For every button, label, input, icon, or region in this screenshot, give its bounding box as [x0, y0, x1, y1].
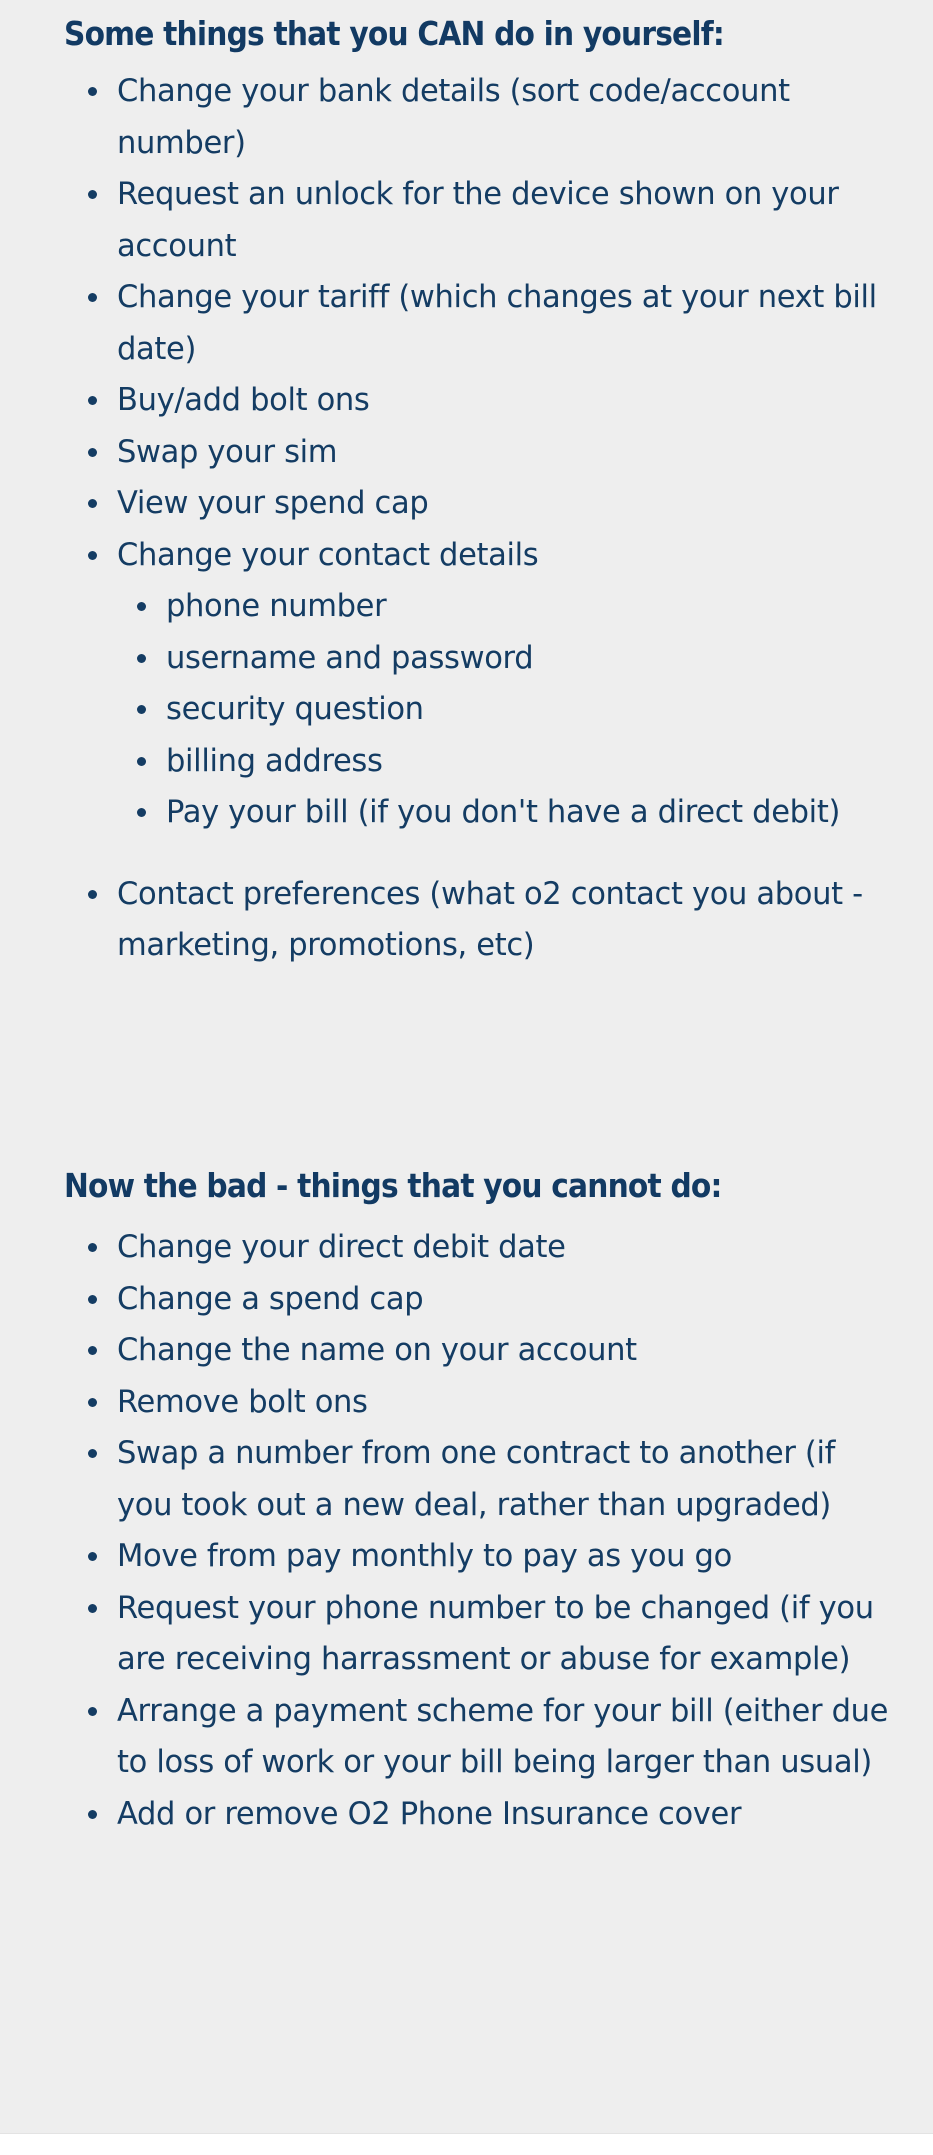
bullet-point-icon — [88, 396, 97, 405]
bullet-point-icon — [88, 1552, 97, 1561]
bullet-point-icon — [137, 602, 146, 611]
bullet-point-icon — [88, 1243, 97, 1252]
list-item-label: Change your bank details (sort code/acco… — [117, 66, 895, 169]
section-heading-can-do: Some things that you CAN do in yourself: — [64, 14, 724, 54]
section-heading-cannot-do: Now the bad - things that you cannot do: — [64, 1166, 722, 1206]
list-item: Add or remove O2 Phone Insurance cover — [0, 1789, 933, 1841]
bullet-point-icon — [88, 1398, 97, 1407]
list-item-label: Contact preferences (what o2 contact you… — [117, 869, 895, 972]
list-item: Change your direct debit date — [0, 1222, 933, 1274]
page-root: Some things that you CAN do in yourself:… — [0, 0, 933, 2155]
list-item-label: View your spend cap — [117, 478, 895, 530]
list-item: Request your phone number to be changed … — [0, 1583, 933, 1686]
list-item-label: Swap a number from one contract to anoth… — [117, 1428, 895, 1531]
list-item-label: Buy/add bolt ons — [117, 375, 895, 427]
list-item-label: Change your contact details — [117, 530, 895, 582]
list-item: security question — [0, 684, 933, 736]
list-item: Buy/add bolt ons — [0, 375, 933, 427]
list-item: Change your tariff (which changes at you… — [0, 272, 933, 375]
list-item-label: Remove bolt ons — [117, 1377, 895, 1429]
list-item-label: Change the name on your account — [117, 1325, 895, 1377]
bullet-point-icon — [88, 1346, 97, 1355]
list-item-label: Change your tariff (which changes at you… — [117, 272, 895, 375]
bullet-point-icon — [137, 705, 146, 714]
list-item-label: Request an unlock for the device shown o… — [117, 169, 895, 272]
list-item-label: Change your direct debit date — [117, 1222, 895, 1274]
bullet-point-icon — [88, 293, 97, 302]
list-item: Contact preferences (what o2 contact you… — [0, 869, 933, 972]
list-item: phone number — [0, 581, 933, 633]
list-item: username and password — [0, 633, 933, 685]
list-item: Arrange a payment scheme for your bill (… — [0, 1686, 933, 1789]
list-item-label: Request your phone number to be changed … — [117, 1583, 895, 1686]
list-item: Request an unlock for the device shown o… — [0, 169, 933, 272]
list-item: Change a spend cap — [0, 1274, 933, 1326]
list-item-label: billing address — [166, 736, 896, 788]
list-item-label: Add or remove O2 Phone Insurance cover — [117, 1789, 895, 1841]
list-item: Remove bolt ons — [0, 1377, 933, 1429]
list-item-label: phone number — [166, 581, 896, 633]
bullet-point-icon — [88, 1604, 97, 1613]
list-item-label: Change a spend cap — [117, 1274, 895, 1326]
list-item: Pay your bill (if you don't have a direc… — [0, 787, 933, 839]
can-do-list: Change your bank details (sort code/acco… — [0, 66, 933, 972]
list-item: Move from pay monthly to pay as you go — [0, 1531, 933, 1583]
list-item-label: Pay your bill (if you don't have a direc… — [166, 787, 896, 839]
bottom-white-strip — [0, 2133, 933, 2155]
list-item: Change your bank details (sort code/acco… — [0, 66, 933, 169]
list-item-label: Move from pay monthly to pay as you go — [117, 1531, 895, 1583]
bullet-point-icon — [88, 551, 97, 560]
bullet-point-icon — [88, 890, 97, 899]
bullet-point-icon — [88, 87, 97, 96]
bullet-point-icon — [88, 1810, 97, 1819]
bullet-point-icon — [137, 654, 146, 663]
list-item: billing address — [0, 736, 933, 788]
bullet-point-icon — [88, 190, 97, 199]
list-item-label: username and password — [166, 633, 896, 685]
bullet-point-icon — [88, 1707, 97, 1716]
section-heading-can-do-wrapper: Some things that you CAN do in yourself: — [64, 14, 797, 54]
bullet-point-icon — [137, 808, 146, 817]
bullet-point-icon — [88, 1295, 97, 1304]
list-item-label: Arrange a payment scheme for your bill (… — [117, 1686, 895, 1789]
list-item: View your spend cap — [0, 478, 933, 530]
bullet-point-icon — [88, 1449, 97, 1458]
list-item: Change the name on your account — [0, 1325, 933, 1377]
list-item-label: Swap your sim — [117, 427, 895, 479]
bullet-point-icon — [88, 448, 97, 457]
list-item: Change your contact details — [0, 530, 933, 582]
section-heading-cannot-do-wrapper: Now the bad - things that you cannot do: — [64, 1166, 795, 1206]
list-item: Swap a number from one contract to anoth… — [0, 1428, 933, 1531]
content-panel: Some things that you CAN do in yourself:… — [0, 0, 933, 2133]
bullet-point-icon — [88, 499, 97, 508]
cannot-do-list: Change your direct debit dateChange a sp… — [0, 1222, 933, 1840]
list-item-label: security question — [166, 684, 896, 736]
bullet-point-icon — [137, 757, 146, 766]
list-item: Swap your sim — [0, 427, 933, 479]
